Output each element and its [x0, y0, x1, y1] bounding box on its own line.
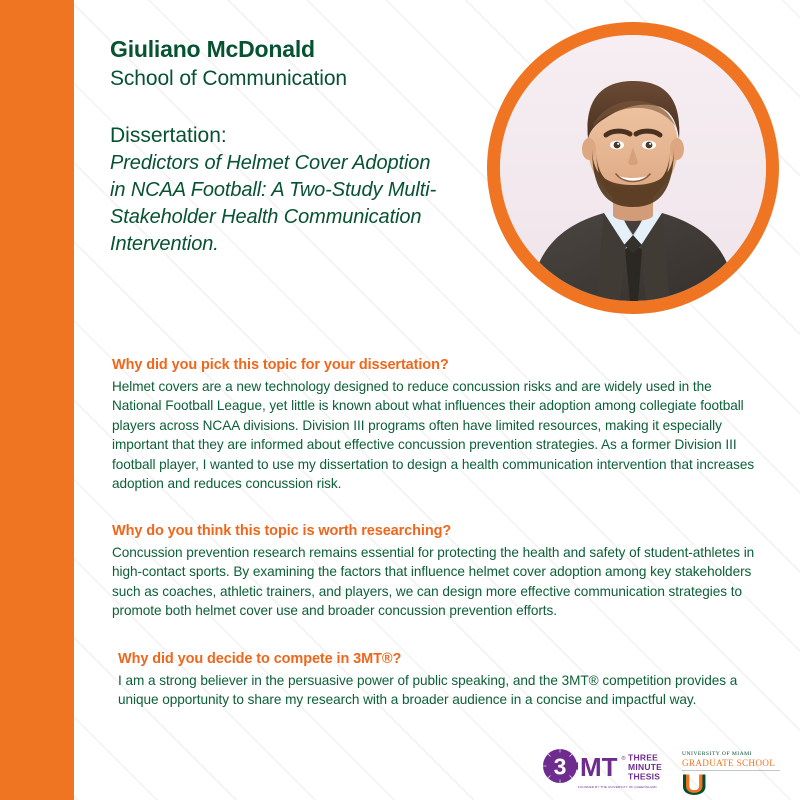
footer-logo-group: 3 MT ® THREE MINUTE THESIS FOUNDED BY TH…	[540, 746, 790, 796]
poster-canvas: THREE MINUTE THESIS COMPETITION: NOV. 11…	[0, 0, 800, 800]
um-u-monogram	[683, 775, 705, 795]
dissertation-title: Predictors of Helmet Cover Adoption in N…	[110, 150, 450, 258]
qa-section-3: Why did you decide to compete in 3MT®? I…	[118, 649, 758, 710]
three-mt-line3: THESIS	[628, 772, 660, 782]
qa-question: Why did you decide to compete in 3MT®?	[118, 649, 758, 669]
portrait-illustration	[500, 35, 766, 301]
avatar	[500, 35, 766, 301]
three-mt-registered: ®	[622, 755, 626, 762]
three-mt-line1: THREE	[628, 753, 658, 763]
presenter-school: School of Communication	[110, 64, 470, 93]
qa-answer: Concussion prevention research remains e…	[112, 543, 757, 621]
qa-section-2: Why do you think this topic is worth res…	[112, 521, 757, 621]
qa-answer: I am a strong believer in the persuasive…	[118, 671, 758, 710]
page-title: Giuliano McDonald	[110, 34, 470, 64]
um-logo-line1: UNIVERSITY OF MIAMI	[682, 751, 752, 757]
portrait-ring	[487, 22, 779, 314]
qa-section-1: Why did you pick this topic for your dis…	[112, 355, 757, 493]
um-logo-line2: GRADUATE SCHOOL	[682, 758, 775, 768]
qa-question: Why do you think this topic is worth res…	[112, 521, 757, 541]
three-minute-thesis-logo: 3 MT ® THREE MINUTE THESIS FOUNDED BY TH…	[540, 746, 670, 792]
qa-question: Why did you pick this topic for your dis…	[112, 355, 757, 375]
presenter-header: Giuliano McDonald School of Communicatio…	[110, 34, 470, 258]
three-mt-numeral: 3	[554, 754, 567, 780]
qa-answer: Helmet covers are a new technology desig…	[112, 377, 757, 493]
three-mt-line2: MINUTE	[628, 762, 662, 772]
three-mt-tagline: FOUNDED BY THE UNIVERSITY OF QUEENSLAND	[578, 785, 657, 789]
dissertation-label: Dissertation:	[110, 121, 470, 150]
university-of-miami-graduate-school-logo: UNIVERSITY OF MIAMI GRADUATE SCHOOL	[676, 748, 786, 796]
event-banner-sidebar: THREE MINUTE THESIS COMPETITION: NOV. 11…	[0, 0, 74, 800]
three-mt-monogram: MT	[580, 752, 618, 782]
